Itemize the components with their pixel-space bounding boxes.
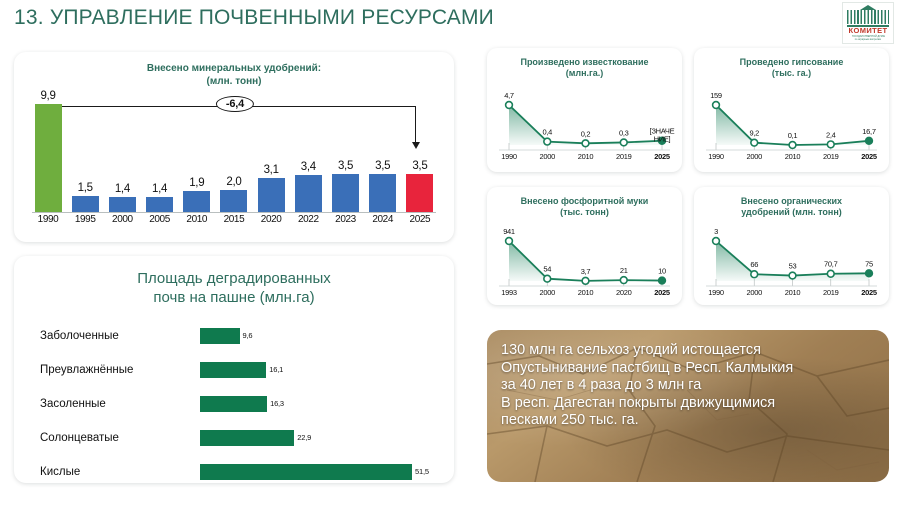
degraded-value: 51,5	[415, 467, 429, 476]
parliament-building-icon	[847, 5, 889, 27]
degraded-row: Кислые51,5	[40, 456, 436, 487]
data-point-marker	[866, 270, 873, 277]
degraded-value: 22,9	[297, 433, 311, 442]
organic-subtitle-text: удобрений (млн. тонн)	[741, 207, 842, 217]
card-gypsum: Проведено гипсование (тыс. га.) 15919909…	[694, 48, 889, 172]
slide-root: 13. УПРАВЛЕНИЕ ПОЧВЕННЫМИ РЕСУРСАМИ КОМИ…	[0, 0, 900, 506]
committee-logo: КОМИТЕТ ГОСУДАРСТВЕННОЙ ДУМЫ по аграрным…	[842, 2, 894, 44]
chart-title-text: Внесено минеральных удобрений:	[147, 63, 321, 74]
x-axis-label: 2010	[785, 288, 801, 297]
data-point-label: 10	[658, 267, 666, 276]
card-degraded-soils: Площадь деградированных почв на пашне (м…	[14, 256, 454, 483]
x-axis-line	[32, 212, 436, 213]
x-axis-label: 2010	[181, 214, 213, 230]
x-axis-label: 2020	[255, 214, 287, 230]
organic-line-chart: 3199066200053201070,72019752025	[704, 225, 879, 299]
x-axis-label: 2000	[540, 152, 556, 161]
bar-item: 3,5	[367, 160, 399, 212]
x-axis-label: 2000	[747, 288, 763, 297]
bar-item: 3,1	[255, 164, 287, 212]
data-point-marker	[713, 102, 720, 109]
bar-value-label: 1,4	[115, 183, 130, 195]
x-axis-label: 2024	[367, 214, 399, 230]
bar-item: 9,9	[32, 90, 64, 212]
chart-subtitle-text: (млн. тонн)	[207, 76, 262, 87]
degraded-subtitle-text: почв на пашне (млн.га)	[153, 289, 314, 306]
degraded-label: Кислые	[40, 466, 200, 478]
bar-value-label: 3,5	[375, 160, 390, 172]
chart-title-organic: Внесено органических удобрений (млн. тон…	[694, 196, 889, 219]
gypsum-title-text: Проведено гипсование	[740, 57, 844, 67]
chart-title-liming: Произведено известкование (млн.га.)	[487, 57, 682, 80]
bar-value-label: 2,0	[226, 176, 241, 188]
data-point-label: 3	[714, 227, 718, 236]
degraded-label: Преувлажнённые	[40, 364, 200, 376]
phosphorite-line-chart: 94119935420003,72010212020102025	[497, 225, 672, 299]
chart-title-degraded: Площадь деградированных почв на пашне (м…	[14, 270, 454, 308]
x-axis-label: 2025	[654, 288, 670, 297]
degraded-bar	[200, 362, 266, 378]
degraded-title-text: Площадь деградированных	[137, 270, 331, 287]
bar-value-label: 3,5	[338, 160, 353, 172]
degraded-track: 9,6	[200, 328, 436, 344]
chart-title-gypsum: Проведено гипсование (тыс. га.)	[694, 57, 889, 80]
bar-value-label: 3,5	[412, 160, 427, 172]
degraded-value: 16,3	[270, 399, 284, 408]
mineral-column-chart: -6,4 9,91,51,41,41,92,03,13,43,53,53,5 1…	[32, 94, 436, 230]
data-point-marker	[506, 238, 513, 245]
data-point-marker	[582, 277, 589, 284]
x-axis-label: 1990	[32, 214, 64, 230]
gypsum-subtitle-text: (тыс. га.)	[772, 68, 811, 78]
x-axis-label: 2019	[616, 152, 632, 161]
bar	[35, 104, 62, 212]
data-point-marker	[620, 139, 627, 146]
x-axis-label: 1990	[501, 152, 517, 161]
degraded-row: Засоленные16,3	[40, 388, 436, 419]
data-point-label: НИЕ]	[654, 135, 671, 144]
bar	[406, 174, 433, 212]
degraded-track: 22,9	[200, 430, 436, 446]
data-point-label: 0,4	[542, 128, 552, 137]
degraded-bar	[200, 464, 412, 480]
x-axis-label: 2022	[292, 214, 324, 230]
degraded-track: 51,5	[200, 464, 436, 480]
bar-value-label: 3,4	[301, 161, 316, 173]
bar-item: 1,9	[181, 177, 213, 212]
phosphorite-title-text: Внесено фосфоритной муки	[521, 196, 649, 206]
bar-value-label: 9,9	[40, 90, 55, 102]
x-axis-label: 2025	[404, 214, 436, 230]
card-organic: Внесено органических удобрений (млн. тон…	[694, 187, 889, 305]
degraded-label: Заболоченные	[40, 330, 200, 342]
logo-name: КОМИТЕТ	[848, 27, 887, 35]
x-axis-label: 2020	[616, 288, 632, 297]
x-axis-label: 1990	[708, 152, 724, 161]
data-point-marker	[827, 141, 834, 148]
bar	[183, 191, 210, 212]
x-axis-label: 2025	[654, 152, 670, 161]
degraded-track: 16,3	[200, 396, 436, 412]
data-point-marker	[582, 140, 589, 147]
bar	[146, 197, 173, 212]
degraded-label: Солонцеватые	[40, 432, 200, 444]
data-point-marker	[620, 277, 627, 284]
data-point-label: 54	[543, 265, 551, 274]
x-axis-label: 1993	[501, 288, 517, 297]
x-axis-label: 1995	[69, 214, 101, 230]
degraded-row: Преувлажнённые16,1	[40, 354, 436, 385]
data-point-marker	[866, 137, 873, 144]
degraded-bar-list: Заболоченные9,6Преувлажнённые16,1Засолен…	[40, 320, 436, 490]
bar-item: 3,5	[404, 160, 436, 212]
x-axis-label: 1990	[708, 288, 724, 297]
degraded-bar	[200, 430, 294, 446]
bar-item: 3,4	[292, 161, 324, 212]
mineral-x-labels: 1990199520002005201020152020202220232024…	[32, 214, 436, 230]
x-axis-label: 2025	[861, 152, 877, 161]
bar	[332, 174, 359, 212]
bar	[258, 178, 285, 212]
data-point-marker	[751, 139, 758, 146]
degraded-track: 16,1	[200, 362, 436, 378]
chart-title-phosphorite: Внесено фосфоритной муки (тыс. тонн)	[487, 196, 682, 219]
bar-item: 1,5	[69, 182, 101, 212]
data-point-label: 2,4	[826, 130, 836, 139]
bar-item: 2,0	[218, 176, 250, 212]
page-title: 13. УПРАВЛЕНИЕ ПОЧВЕННЫМИ РЕСУРСАМИ	[14, 6, 494, 30]
data-point-label: 53	[789, 262, 797, 271]
bar	[220, 190, 247, 212]
facts-text: 130 млн га сельхоз угодий истощается Опу…	[501, 342, 879, 430]
x-axis-label: 2010	[785, 152, 801, 161]
data-point-marker	[789, 142, 796, 149]
data-point-marker	[544, 138, 551, 145]
x-axis-label: 2000	[540, 288, 556, 297]
bar-item: 1,4	[144, 183, 176, 212]
x-axis-label: 2023	[330, 214, 362, 230]
data-point-marker	[544, 275, 551, 282]
data-point-label: 70,7	[824, 260, 838, 269]
bar-item: 1,4	[106, 183, 138, 212]
x-axis-label: 2010	[578, 288, 594, 297]
degraded-bar	[200, 396, 267, 412]
chart-title-mineral: Внесено минеральных удобрений: (млн. тон…	[14, 63, 454, 88]
gypsum-line-chart: 15919909,220000,120102,4201916,72025	[704, 86, 879, 166]
data-point-label: 159	[710, 91, 722, 100]
bar-value-label: 1,4	[152, 183, 167, 195]
x-axis-label: 2000	[747, 152, 763, 161]
x-axis-label: 2010	[578, 152, 594, 161]
bar	[72, 196, 99, 212]
liming-line-chart: 4,719900,420000,220100,32019[ЗНАЧЕНИЕ]20…	[497, 86, 672, 166]
logo-subtitle-2: по аграрным вопросам	[855, 38, 881, 41]
card-liming: Произведено известкование (млн.га.) 4,71…	[487, 48, 682, 172]
bar	[369, 174, 396, 212]
data-point-label: 3,7	[581, 267, 591, 276]
organic-title-text: Внесено органических	[741, 196, 842, 206]
degraded-value: 16,1	[269, 365, 283, 374]
data-point-label: 75	[865, 259, 873, 268]
mineral-bars: 9,91,51,41,41,92,03,13,43,53,53,5	[32, 100, 436, 212]
card-phosphorite: Внесено фосфоритной муки (тыс. тонн) 941…	[487, 187, 682, 305]
bar-item: 3,5	[330, 160, 362, 212]
data-point-label: 0,2	[581, 129, 591, 138]
data-point-label: 0,3	[619, 128, 629, 137]
facts-photo-box: 130 млн га сельхоз угодий истощается Опу…	[487, 330, 889, 482]
degraded-row: Заболоченные9,6	[40, 320, 436, 351]
x-axis-label: 2025	[861, 288, 877, 297]
data-point-marker	[659, 277, 666, 284]
x-axis-label: 2019	[823, 288, 839, 297]
x-axis-label: 2000	[106, 214, 138, 230]
degraded-bar	[200, 328, 240, 344]
data-point-label: 16,7	[862, 127, 876, 136]
x-axis-label: 2019	[823, 152, 839, 161]
degraded-row: Солонцеватые22,9	[40, 422, 436, 453]
x-axis-label: 2005	[144, 214, 176, 230]
phosphorite-subtitle-text: (тыс. тонн)	[560, 207, 609, 217]
data-point-marker	[789, 272, 796, 279]
data-point-label: 941	[503, 227, 515, 236]
bar-value-label: 3,1	[264, 164, 279, 176]
degraded-label: Засоленные	[40, 398, 200, 410]
data-point-label: 4,7	[504, 91, 514, 100]
data-point-label: 21	[620, 266, 628, 275]
data-point-label: 66	[750, 260, 758, 269]
data-point-label: 9,2	[749, 129, 759, 138]
bar	[109, 197, 136, 212]
data-point-marker	[506, 102, 513, 109]
data-point-marker	[751, 271, 758, 278]
data-point-marker	[713, 238, 720, 245]
data-point-label: 0,1	[788, 131, 798, 140]
liming-subtitle-text: (млн.га.)	[566, 68, 604, 78]
liming-title-text: Произведено известкование	[520, 57, 648, 67]
bar	[295, 175, 322, 212]
data-point-marker	[827, 270, 834, 277]
card-mineral-fertilizer: Внесено минеральных удобрений: (млн. тон…	[14, 52, 454, 242]
bar-value-label: 1,5	[78, 182, 93, 194]
degraded-value: 9,6	[243, 331, 253, 340]
x-axis-label: 2015	[218, 214, 250, 230]
bar-value-label: 1,9	[189, 177, 204, 189]
